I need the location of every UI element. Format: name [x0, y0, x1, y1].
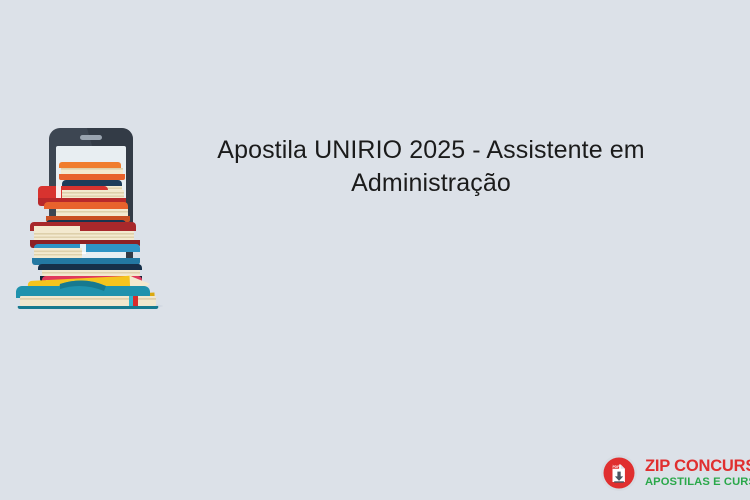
- brand-logo-text: ZIP CONCURSOS APOSTILAS E CURSOS: [645, 458, 750, 489]
- brand-name: ZIP CONCURSOS: [645, 458, 750, 475]
- brand-logo[interactable]: PDF ZIP CONCURSOS APOSTILAS E CURSOS: [600, 452, 740, 494]
- page-title: Apostila UNIRIO 2025 - Assistente em Adm…: [185, 134, 677, 200]
- book-orange-4: [44, 202, 130, 222]
- bookmark-red: [133, 296, 138, 306]
- bookmark-teal: [129, 296, 133, 306]
- svg-text:PDF: PDF: [612, 465, 619, 469]
- product-banner: Apostila UNIRIO 2025 - Assistente em Adm…: [0, 0, 750, 500]
- pdf-download-circle-icon: PDF: [600, 454, 638, 492]
- product-title-block: Apostila UNIRIO 2025 - Assistente em Adm…: [185, 134, 677, 200]
- brand-tagline: APOSTILAS E CURSOS: [645, 477, 750, 488]
- book-orange-top: [59, 162, 125, 180]
- tablet-speaker: [80, 135, 102, 140]
- stack-of-books-with-tablet-illustration: [12, 126, 170, 312]
